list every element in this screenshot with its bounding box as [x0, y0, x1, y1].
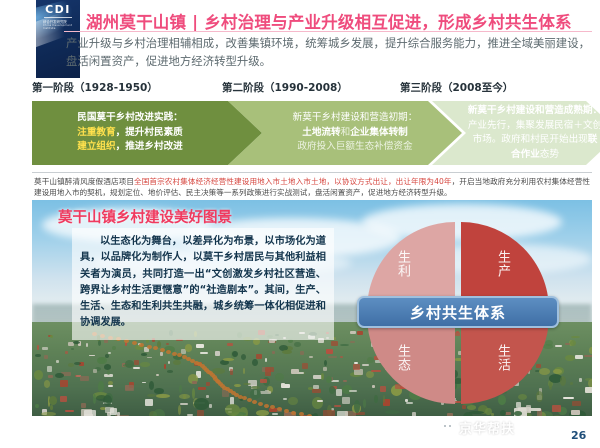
phase2-term-2: 企业集体转制 — [350, 127, 408, 138]
wechat-watermark: 京华帮扶 — [440, 418, 515, 437]
phase-arrow-2[interactable]: 新莫干乡村建设和营造初期： 土地流转和企业集体转制 政府投入巨额生态补偿资金 — [228, 101, 462, 165]
title-divider — [64, 31, 592, 32]
phase1-highlight-1: 注重教育 — [77, 127, 115, 138]
panel-body-text: 以生态化为舞台，以差异化为布景，以市场化为道具，以品牌化为制作人，以莫干乡村居民… — [80, 234, 326, 332]
footnote-highlight: 全国首宗农村集体经济经营性建设用地入市土地入市土地，以协议方式出让，出让年限为4… — [134, 177, 452, 186]
wheel-quadrant-bottom-left[interactable] — [367, 316, 455, 404]
page-title: 湖州莫干山镇 | 乡村治理与产业升级相互促进，形成乡村共生体系 — [86, 9, 586, 33]
footnote: 莫干山镇醉清风度假酒店项目全国首宗农村集体经济经营性建设用地入市土地入市土地，以… — [34, 176, 590, 198]
wheel-center-label: 乡村共生体系 — [357, 296, 559, 328]
phase-label-1: 第一阶段（1928-1950） — [32, 80, 158, 95]
panel-heading: 莫干山镇乡村建设美好图景 — [58, 206, 232, 227]
phase3-line-2: 产业先行，集聚发展民宿＋文创 — [456, 119, 600, 134]
footnote-divider — [32, 172, 592, 173]
wheel-label-shengli: 生利 — [395, 250, 410, 278]
wheel-label-shengchan: 生产 — [495, 250, 510, 278]
wheel-center-text: 乡村共生体系 — [410, 302, 506, 323]
symbiosis-wheel: 生利 生产 生态 生活 乡村共生体系 — [367, 222, 549, 404]
phase2-heading: 新莫干乡村建设和营造初期： — [254, 111, 456, 126]
timeline-arrows: 民国莫干乡村改进实践： 注重教育，提升村民素质 建立组织，推进乡村改进 新莫干乡… — [32, 101, 592, 165]
phase1-line-2: ，提升村民素质 — [116, 127, 183, 138]
phase-arrow-1[interactable]: 民国莫干乡村改进实践： 注重教育，提升村民素质 建立组织，推进乡村改进 — [32, 101, 262, 165]
page-subtitle: 产业升级与乡村治理相辅相成，改善集镇环境，统筹城乡发展，提升综合服务能力，推进全… — [66, 35, 594, 70]
logo-divider — [44, 17, 72, 18]
phase1-highlight-2: 建立组织 — [77, 141, 115, 152]
phase-label-2: 第二阶段（1990-2008） — [222, 80, 348, 95]
phase3-line-3: 市场。政府和村民开始出现 — [473, 134, 588, 145]
wechat-icon — [440, 422, 455, 434]
phase2-term-1: 土地流转 — [302, 127, 340, 138]
phase3-term-2: 合作业 — [511, 149, 540, 160]
phase3-heading: 新莫干乡村建设和营造成熟期： — [456, 104, 600, 119]
phase1-heading: 民国莫干乡村改进实践： — [38, 111, 256, 126]
logo-brand: CDI — [36, 3, 80, 16]
phase3-term-1: 联 — [588, 134, 598, 145]
phase3-line-4: 态势 — [540, 149, 559, 160]
footnote-part-1: 莫干山镇醉清风度假酒店项目 — [34, 177, 134, 186]
slide: CDI 综合开发研究院 China Development Institute … — [0, 0, 600, 448]
phase-label-3: 第三阶段（2008至今） — [400, 80, 513, 95]
timeline-labels: 第一阶段（1928-1950） 第二阶段（1990-2008） 第三阶段（200… — [0, 80, 600, 98]
wheel-label-shengtai: 生态 — [395, 344, 410, 372]
phase1-line-3: ，推进乡村改进 — [116, 141, 183, 152]
watermark-text: 京华帮扶 — [459, 418, 515, 437]
phase2-conjunction: 和 — [341, 127, 351, 138]
page-number: 26 — [571, 429, 586, 442]
logo-subtitle-en: China Development Institute — [43, 24, 75, 31]
phase2-line-3: 政府投入巨额生态补偿资金 — [254, 140, 456, 155]
wheel-label-shenghuo: 生活 — [495, 344, 510, 372]
panel-textbox: 以生态化为舞台，以差异化为布景，以市场化为道具，以品牌化为制作人，以莫干乡村居民… — [72, 228, 334, 340]
